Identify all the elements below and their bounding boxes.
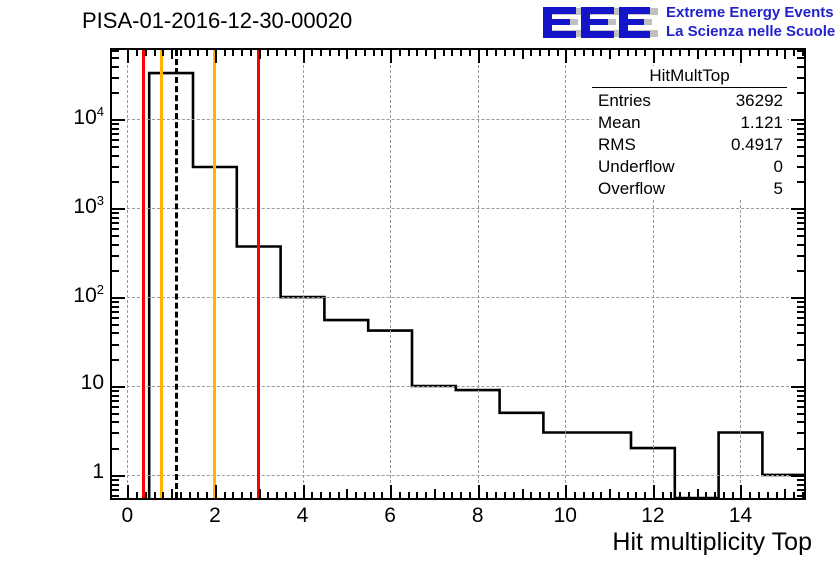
y-tick bbox=[797, 448, 804, 450]
stats-title: HitMultTop bbox=[592, 66, 787, 87]
y-tick bbox=[112, 324, 119, 326]
x-tick bbox=[127, 485, 129, 498]
x-tick bbox=[346, 489, 348, 498]
y-tick bbox=[797, 57, 804, 59]
y-tick-label: 103 bbox=[73, 193, 104, 219]
x-tick bbox=[197, 492, 199, 498]
y-tick bbox=[112, 495, 119, 497]
x-tick bbox=[600, 492, 602, 498]
y-tick bbox=[797, 228, 804, 230]
x-tick bbox=[679, 50, 681, 56]
x-tick bbox=[180, 50, 182, 56]
x-tick bbox=[311, 50, 313, 56]
y-tick bbox=[112, 66, 119, 68]
x-tick bbox=[259, 489, 261, 498]
x-tick bbox=[688, 50, 690, 56]
x-tick bbox=[364, 50, 366, 56]
y-tick-label: 1 bbox=[92, 460, 104, 484]
x-tick bbox=[644, 492, 646, 498]
x-tick bbox=[565, 485, 567, 498]
y-tick bbox=[791, 119, 804, 121]
y-tick bbox=[112, 406, 119, 408]
marker-line-red-low bbox=[142, 50, 145, 498]
x-tick bbox=[364, 492, 366, 498]
x-tick bbox=[206, 50, 208, 56]
gridline-x-5 bbox=[565, 50, 566, 498]
x-tick bbox=[338, 492, 340, 498]
x-tick bbox=[329, 492, 331, 498]
eee-logo-line1: Extreme Energy Events bbox=[666, 3, 836, 22]
gridline-x-4 bbox=[478, 50, 479, 498]
x-tick bbox=[267, 50, 269, 56]
eee-logo-svg bbox=[540, 5, 660, 41]
x-tick bbox=[530, 492, 532, 498]
x-tick bbox=[784, 489, 786, 498]
y-tick bbox=[797, 66, 804, 68]
x-tick bbox=[232, 492, 234, 498]
x-tick-label: 8 bbox=[458, 504, 498, 528]
x-tick-label: 10 bbox=[545, 504, 585, 528]
x-tick bbox=[495, 492, 497, 498]
x-tick bbox=[522, 489, 524, 498]
y-tick bbox=[797, 166, 804, 168]
x-tick-label: 6 bbox=[370, 504, 410, 528]
gridline-x-2 bbox=[303, 50, 304, 498]
x-tick bbox=[565, 50, 567, 63]
x-tick bbox=[373, 492, 375, 498]
y-tick bbox=[112, 332, 119, 334]
page-title: PISA-01-2016-12-30-00020 bbox=[82, 8, 352, 34]
y-tick bbox=[112, 133, 119, 135]
x-tick bbox=[539, 50, 541, 56]
x-tick bbox=[443, 50, 445, 56]
y-tick bbox=[112, 181, 119, 183]
x-tick bbox=[285, 492, 287, 498]
x-tick bbox=[618, 50, 620, 56]
y-tick bbox=[112, 448, 119, 450]
stats-row-label: Underflow bbox=[598, 156, 675, 178]
x-tick bbox=[381, 50, 383, 56]
x-tick-label: 14 bbox=[720, 504, 760, 528]
y-tick-label: 102 bbox=[73, 282, 104, 308]
stats-row-label: Overflow bbox=[598, 178, 665, 200]
y-tick bbox=[112, 155, 119, 157]
x-tick bbox=[732, 492, 734, 498]
statistics-box: HitMultTop Entries36292Mean1.121RMS0.491… bbox=[592, 66, 787, 200]
x-tick bbox=[154, 50, 156, 56]
x-tick bbox=[793, 492, 795, 498]
x-tick bbox=[592, 492, 594, 498]
y-tick bbox=[112, 390, 119, 392]
y-tick bbox=[797, 139, 804, 141]
x-tick bbox=[355, 492, 357, 498]
x-tick bbox=[635, 492, 637, 498]
y-tick bbox=[112, 92, 119, 94]
x-tick bbox=[776, 50, 778, 56]
marker-line-orange-high bbox=[213, 50, 216, 498]
x-tick bbox=[740, 485, 742, 498]
eee-logo-line2: La Scienza nelle Scuole bbox=[666, 22, 836, 41]
y-tick bbox=[112, 270, 119, 272]
y-tick bbox=[797, 395, 804, 397]
x-tick bbox=[460, 50, 462, 56]
x-tick bbox=[662, 492, 664, 498]
y-tick bbox=[797, 92, 804, 94]
x-tick bbox=[154, 492, 156, 498]
y-tick bbox=[797, 133, 804, 135]
eee-logo-mark bbox=[540, 5, 660, 41]
x-tick bbox=[451, 492, 453, 498]
y-tick bbox=[797, 212, 804, 214]
y-tick bbox=[112, 255, 119, 257]
x-tick bbox=[162, 50, 164, 56]
x-tick bbox=[749, 492, 751, 498]
x-tick bbox=[644, 50, 646, 56]
x-tick-label: 0 bbox=[107, 504, 147, 528]
x-tick bbox=[653, 485, 655, 498]
x-tick bbox=[460, 492, 462, 498]
x-tick bbox=[548, 492, 550, 498]
x-tick bbox=[416, 492, 418, 498]
y-tick bbox=[112, 228, 119, 230]
x-tick bbox=[635, 50, 637, 56]
x-tick bbox=[346, 50, 348, 59]
x-tick bbox=[478, 485, 480, 498]
y-tick bbox=[112, 297, 125, 299]
x-tick bbox=[767, 50, 769, 56]
x-tick bbox=[705, 50, 707, 56]
x-tick bbox=[259, 50, 261, 59]
x-tick bbox=[373, 50, 375, 56]
x-tick-label: 12 bbox=[633, 504, 673, 528]
y-tick bbox=[797, 489, 804, 491]
y-tick bbox=[791, 208, 804, 210]
x-tick bbox=[381, 492, 383, 498]
y-tick bbox=[112, 421, 119, 423]
stats-row-value: 0 bbox=[774, 156, 783, 178]
x-tick bbox=[758, 492, 760, 498]
x-tick bbox=[583, 50, 585, 56]
y-tick bbox=[112, 50, 119, 52]
x-tick bbox=[705, 492, 707, 498]
gridline-x-3 bbox=[390, 50, 391, 498]
x-tick bbox=[145, 492, 147, 498]
x-tick bbox=[399, 492, 401, 498]
x-tick bbox=[390, 485, 392, 498]
x-tick bbox=[276, 50, 278, 56]
y-tick-label: 104 bbox=[73, 104, 104, 130]
stats-row-label: Entries bbox=[598, 90, 651, 112]
y-tick bbox=[797, 270, 804, 272]
x-axis-title: Hit multiplicity Top bbox=[612, 528, 812, 557]
x-tick bbox=[469, 492, 471, 498]
x-tick bbox=[513, 50, 515, 56]
x-tick bbox=[486, 492, 488, 498]
x-tick bbox=[443, 492, 445, 498]
x-tick bbox=[171, 50, 173, 59]
y-tick bbox=[797, 359, 804, 361]
x-tick bbox=[732, 50, 734, 56]
x-tick bbox=[609, 50, 611, 59]
y-tick bbox=[112, 217, 119, 219]
y-tick bbox=[797, 317, 804, 319]
x-tick bbox=[451, 50, 453, 56]
x-tick bbox=[776, 492, 778, 498]
x-tick bbox=[574, 492, 576, 498]
y-tick bbox=[797, 390, 804, 392]
x-tick bbox=[697, 489, 699, 498]
stats-row-value: 36292 bbox=[736, 90, 783, 112]
stats-row: Underflow0 bbox=[592, 156, 787, 178]
x-tick bbox=[714, 492, 716, 498]
x-tick bbox=[688, 492, 690, 498]
x-tick bbox=[425, 50, 427, 56]
y-tick bbox=[112, 244, 119, 246]
y-tick bbox=[112, 386, 125, 388]
stats-row: Entries36292 bbox=[592, 90, 787, 112]
y-tick bbox=[112, 212, 119, 214]
x-tick bbox=[784, 50, 786, 59]
x-tick bbox=[408, 492, 410, 498]
stats-row: RMS0.4917 bbox=[592, 134, 787, 156]
x-tick bbox=[486, 50, 488, 56]
x-tick bbox=[609, 489, 611, 498]
y-tick bbox=[112, 208, 125, 210]
x-tick bbox=[390, 50, 392, 63]
y-tick bbox=[112, 57, 119, 59]
x-tick bbox=[592, 50, 594, 56]
stats-row-label: RMS bbox=[598, 134, 636, 156]
x-tick bbox=[267, 492, 269, 498]
x-tick bbox=[189, 50, 191, 56]
x-tick bbox=[320, 492, 322, 498]
y-tick bbox=[112, 413, 119, 415]
x-tick bbox=[408, 50, 410, 56]
x-tick bbox=[197, 50, 199, 56]
x-tick bbox=[557, 492, 559, 498]
y-tick bbox=[797, 50, 804, 52]
x-tick bbox=[740, 50, 742, 63]
x-tick bbox=[215, 50, 217, 63]
x-tick bbox=[224, 492, 226, 498]
x-tick bbox=[583, 492, 585, 498]
x-tick bbox=[215, 485, 217, 498]
y-tick bbox=[797, 413, 804, 415]
x-tick bbox=[504, 50, 506, 56]
x-tick bbox=[338, 50, 340, 56]
y-tick bbox=[797, 344, 804, 346]
x-tick bbox=[311, 492, 313, 498]
x-tick bbox=[767, 492, 769, 498]
x-tick bbox=[548, 50, 550, 56]
y-tick bbox=[797, 400, 804, 402]
y-tick bbox=[797, 255, 804, 257]
y-tick bbox=[112, 77, 119, 79]
y-tick bbox=[797, 406, 804, 408]
y-tick bbox=[112, 166, 119, 168]
x-tick bbox=[714, 50, 716, 56]
y-tick bbox=[797, 432, 804, 434]
y-tick bbox=[112, 222, 119, 224]
stats-row-value: 1.121 bbox=[740, 112, 783, 134]
x-tick bbox=[627, 492, 629, 498]
x-tick bbox=[758, 50, 760, 56]
y-tick bbox=[791, 386, 804, 388]
y-tick bbox=[797, 311, 804, 313]
x-tick bbox=[127, 50, 129, 63]
gridline-x-0 bbox=[127, 50, 128, 498]
y-tick bbox=[112, 475, 125, 477]
y-tick bbox=[797, 77, 804, 79]
y-tick bbox=[112, 235, 119, 237]
x-tick bbox=[162, 492, 164, 498]
x-tick bbox=[399, 50, 401, 56]
x-tick bbox=[285, 50, 287, 56]
y-tick bbox=[797, 332, 804, 334]
x-tick bbox=[469, 50, 471, 56]
y-tick bbox=[112, 479, 119, 481]
x-tick bbox=[329, 50, 331, 56]
y-tick bbox=[797, 181, 804, 183]
stats-row-label: Mean bbox=[598, 112, 641, 134]
x-tick bbox=[320, 50, 322, 56]
y-tick bbox=[797, 222, 804, 224]
x-tick bbox=[495, 50, 497, 56]
stats-divider bbox=[592, 87, 787, 88]
y-tick bbox=[112, 359, 119, 361]
y-tick bbox=[112, 139, 119, 141]
y-tick bbox=[797, 217, 804, 219]
y-tick bbox=[797, 123, 804, 125]
stats-row: Overflow5 bbox=[592, 178, 787, 200]
x-tick bbox=[241, 50, 243, 56]
x-tick bbox=[171, 489, 173, 498]
y-tick bbox=[112, 400, 119, 402]
x-tick bbox=[434, 489, 436, 498]
y-tick bbox=[797, 495, 804, 497]
y-tick bbox=[112, 119, 125, 121]
y-tick bbox=[797, 128, 804, 130]
x-tick-label: 4 bbox=[283, 504, 323, 528]
y-tick bbox=[797, 244, 804, 246]
x-tick bbox=[276, 492, 278, 498]
y-tick bbox=[797, 421, 804, 423]
y-tick bbox=[797, 146, 804, 148]
x-tick bbox=[723, 50, 725, 56]
x-tick-label: 2 bbox=[195, 504, 235, 528]
x-tick bbox=[355, 50, 357, 56]
x-tick bbox=[749, 50, 751, 56]
x-tick bbox=[670, 492, 672, 498]
x-tick bbox=[513, 492, 515, 498]
x-tick bbox=[653, 50, 655, 63]
y-tick bbox=[112, 317, 119, 319]
x-tick bbox=[793, 50, 795, 56]
x-tick bbox=[662, 50, 664, 56]
y-tick bbox=[791, 297, 804, 299]
x-tick bbox=[294, 50, 296, 56]
y-tick-label: 10 bbox=[81, 371, 104, 395]
x-tick bbox=[303, 485, 305, 498]
x-tick bbox=[241, 492, 243, 498]
y-tick bbox=[112, 306, 119, 308]
y-tick bbox=[797, 479, 804, 481]
x-tick bbox=[294, 492, 296, 498]
x-tick bbox=[180, 492, 182, 498]
stats-rows: Entries36292Mean1.121RMS0.4917Underflow0… bbox=[592, 90, 787, 200]
y-tick bbox=[112, 128, 119, 130]
marker-line-orange-low bbox=[160, 50, 163, 498]
y-tick bbox=[112, 432, 119, 434]
y-tick bbox=[112, 484, 119, 486]
x-tick bbox=[425, 492, 427, 498]
y-tick bbox=[112, 123, 119, 125]
x-tick bbox=[232, 50, 234, 56]
x-tick bbox=[539, 492, 541, 498]
stats-row: Mean1.121 bbox=[592, 112, 787, 134]
x-tick bbox=[303, 50, 305, 63]
y-tick bbox=[112, 344, 119, 346]
x-tick bbox=[478, 50, 480, 63]
x-tick bbox=[206, 492, 208, 498]
stats-row-value: 5 bbox=[774, 178, 783, 200]
eee-logo: Extreme Energy Events La Scienza nelle S… bbox=[540, 2, 832, 44]
x-tick bbox=[600, 50, 602, 56]
x-tick bbox=[416, 50, 418, 56]
x-tick bbox=[250, 492, 252, 498]
y-tick bbox=[797, 235, 804, 237]
x-tick bbox=[136, 492, 138, 498]
y-tick bbox=[112, 146, 119, 148]
x-tick bbox=[224, 50, 226, 56]
y-tick bbox=[797, 306, 804, 308]
x-tick bbox=[670, 50, 672, 56]
y-tick bbox=[112, 311, 119, 313]
stats-row-value: 0.4917 bbox=[731, 134, 783, 156]
y-tick bbox=[797, 484, 804, 486]
x-tick bbox=[618, 492, 620, 498]
x-tick bbox=[574, 50, 576, 56]
y-tick bbox=[797, 324, 804, 326]
x-tick bbox=[522, 50, 524, 59]
x-tick bbox=[557, 50, 559, 56]
x-tick bbox=[697, 50, 699, 59]
y-tick bbox=[791, 475, 804, 477]
marker-line-red-high bbox=[257, 50, 260, 498]
x-tick bbox=[189, 492, 191, 498]
x-tick bbox=[434, 50, 436, 59]
x-tick bbox=[627, 50, 629, 56]
y-tick bbox=[112, 301, 119, 303]
x-tick bbox=[145, 50, 147, 56]
marker-line-mean-dashed bbox=[175, 50, 178, 498]
y-tick bbox=[797, 301, 804, 303]
y-tick bbox=[112, 395, 119, 397]
eee-logo-text: Extreme Energy Events La Scienza nelle S… bbox=[666, 3, 836, 41]
x-tick bbox=[679, 492, 681, 498]
y-tick bbox=[797, 155, 804, 157]
x-tick bbox=[504, 492, 506, 498]
y-tick bbox=[112, 489, 119, 491]
x-tick bbox=[530, 50, 532, 56]
x-tick bbox=[250, 50, 252, 56]
x-tick bbox=[723, 492, 725, 498]
x-tick bbox=[136, 50, 138, 56]
